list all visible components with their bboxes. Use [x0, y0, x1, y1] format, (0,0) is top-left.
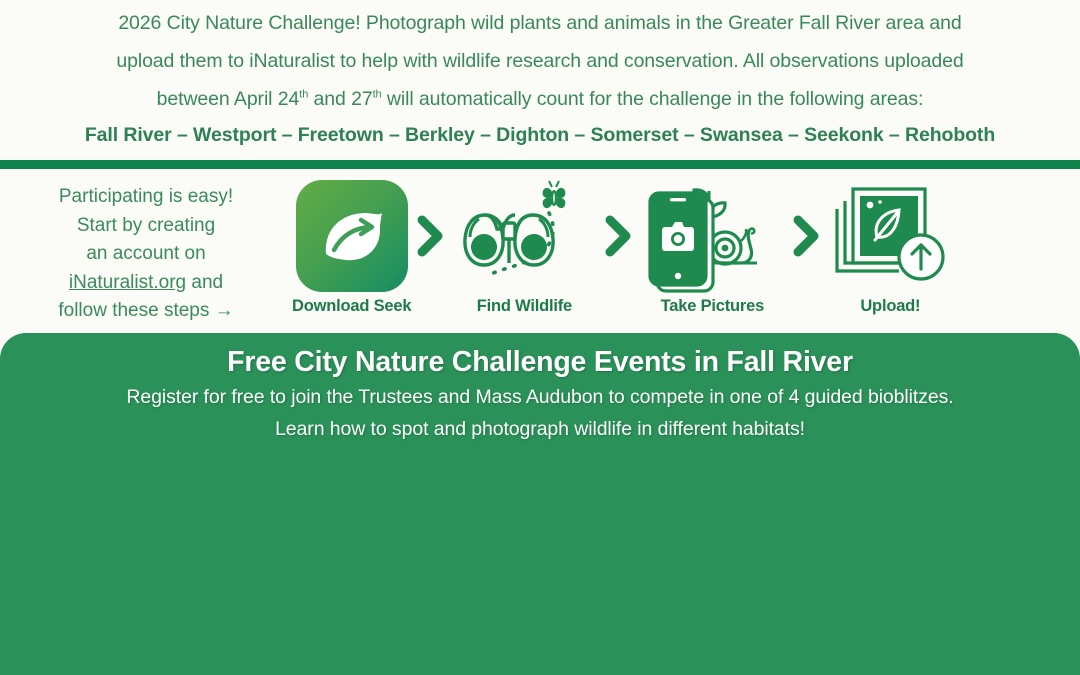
chevron-right-icon-1	[411, 177, 449, 295]
chevron-right-icon-2	[599, 177, 637, 295]
seek-app-icon	[296, 180, 408, 292]
phone-camera-snail-icon	[637, 177, 787, 295]
intro-ordinal-27: th	[373, 89, 382, 101]
step-2-label: Find Wildlife	[477, 297, 572, 316]
step-upload: Upload!	[825, 177, 955, 316]
leaf-arrow-glyph	[312, 196, 392, 276]
steps-intro-line-2: Start by creating	[0, 212, 292, 241]
banner-subtitle-2: Learn how to spot and photograph wildlif…	[0, 416, 1080, 443]
photo-stack-upload-icon	[825, 177, 955, 295]
towns-list: Fall River – Westport – Freetown – Berkl…	[24, 118, 1056, 152]
events-banner: Free City Nature Challenge Events in Fal…	[0, 333, 1080, 675]
steps-intro-line-1: Participating is easy!	[0, 183, 292, 212]
steps-intro-text: Participating is easy! Start by creating…	[0, 177, 292, 326]
step-4-label: Upload!	[860, 297, 920, 316]
intro-line-3-a: between April 24	[157, 88, 300, 110]
binoculars-butterfly-icon	[449, 177, 599, 295]
section-divider	[0, 160, 1080, 169]
step-3-label: Take Pictures	[661, 297, 764, 316]
intro-line-3: between April 24th and 27th will automat…	[24, 80, 1056, 118]
steps-intro-line-4: iNaturalist.org and	[0, 269, 292, 298]
intro-line-1: 2026 City Nature Challenge! Photograph w…	[24, 4, 1056, 42]
intro-line-2: upload them to iNaturalist to help with …	[24, 42, 1056, 80]
step-download-seek: Download Seek	[292, 177, 411, 316]
step-2-art	[449, 177, 599, 295]
steps-intro-line-5: follow these steps →	[0, 297, 292, 326]
step-1-label: Download Seek	[292, 297, 411, 316]
banner-subtitle-1: Register for free to join the Trustees a…	[0, 384, 1080, 411]
banner-title: Free City Nature Challenge Events in Fal…	[0, 346, 1080, 379]
chevron-right-icon-3	[787, 177, 825, 295]
inaturalist-link[interactable]: iNaturalist.org	[69, 272, 186, 293]
step-find-wildlife: Find Wildlife	[449, 177, 599, 316]
steps-intro-line-4-tail: and	[186, 272, 223, 293]
step-1-art	[296, 177, 408, 295]
step-4-art	[825, 177, 955, 295]
intro-line-3-c: will automatically count for the challen…	[382, 88, 924, 110]
step-take-pictures: Take Pictures	[637, 177, 787, 316]
intro-section: 2026 City Nature Challenge! Photograph w…	[0, 0, 1080, 152]
steps-intro-line-3: an account on	[0, 240, 292, 269]
intro-ordinal-24: th	[299, 89, 308, 101]
intro-line-3-b: and 27	[308, 88, 372, 110]
step-3-art	[637, 177, 787, 295]
steps-section: Participating is easy! Start by creating…	[0, 169, 1080, 337]
